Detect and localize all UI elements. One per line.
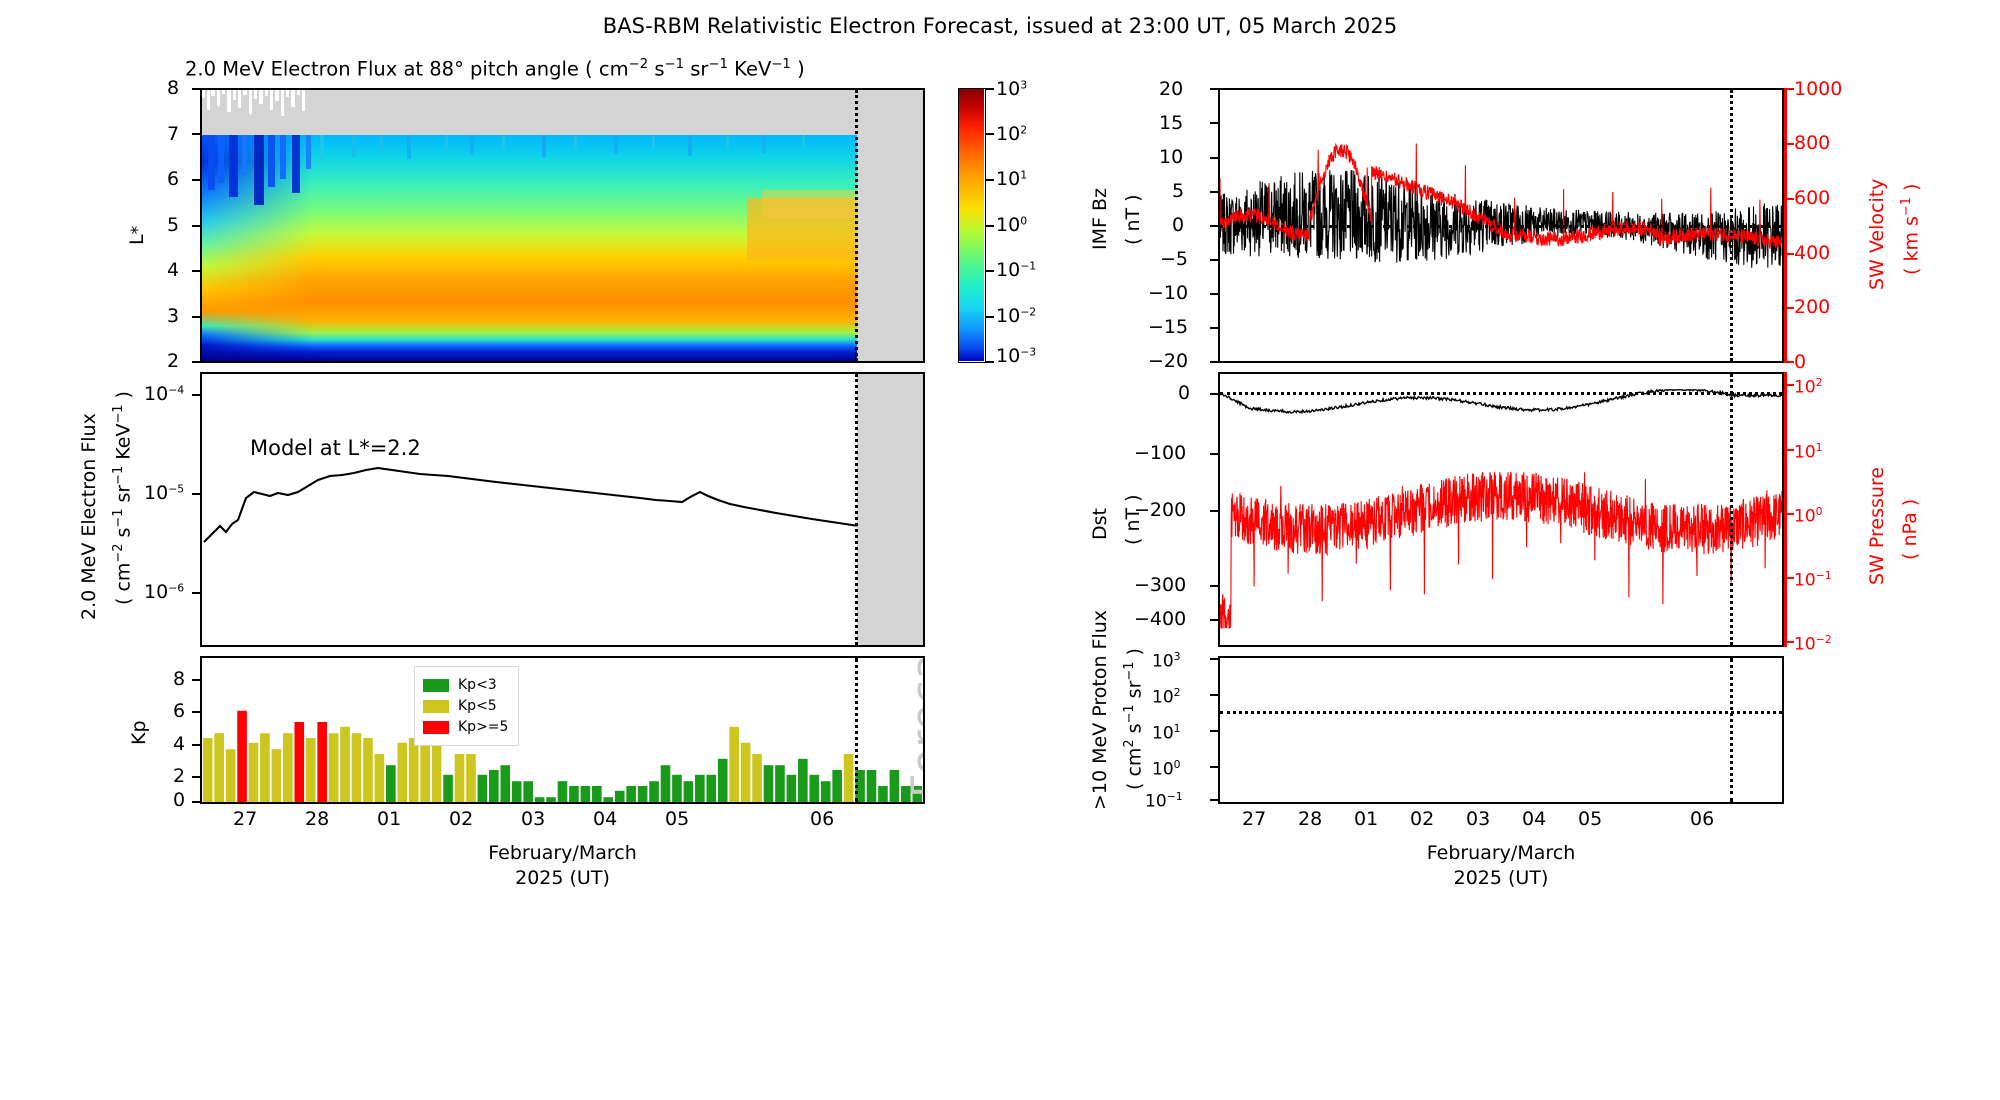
dst-ylabel: Dst xyxy=(1089,540,1121,562)
kp-tick-mark xyxy=(192,776,201,778)
left-xtick-02: 02 xyxy=(449,808,473,830)
imf-tick-mark xyxy=(1210,327,1219,329)
kp-bar xyxy=(352,733,362,802)
flux-title-exp3: −1 xyxy=(708,57,728,72)
forecast-shading-model-flux xyxy=(857,374,923,645)
swv-ytick-600: 600 xyxy=(1794,187,1830,209)
forecast-divider-dst xyxy=(1730,374,1733,645)
left-xtick-27: 27 xyxy=(233,808,257,830)
series-line xyxy=(1220,472,1782,628)
dst-zero-line xyxy=(1220,392,1782,395)
dst-series xyxy=(1220,374,1782,645)
pf-ytick-1e0: 100 xyxy=(1152,758,1181,779)
sw-pressure-axis-line xyxy=(1784,372,1787,647)
kp-bar xyxy=(626,786,636,802)
kp-bar xyxy=(340,727,350,802)
left-xaxis-label: February/March 2025 (UT) xyxy=(200,842,925,889)
kp-bar xyxy=(741,743,751,802)
swp-tick-mark xyxy=(1785,449,1794,451)
swp-ytick-1e1: 101 xyxy=(1794,441,1823,462)
kp-bar xyxy=(203,738,213,802)
right-xaxis-ticks: 27 28 01 02 03 04 05 06 xyxy=(1218,808,1784,834)
heatmap-ylabel: L* xyxy=(126,245,145,267)
kp-bar xyxy=(272,749,282,802)
kp-bar xyxy=(260,733,270,802)
colorbar-tick-1e1: 101 xyxy=(996,168,1027,190)
page-title: BAS-RBM Relativistic Electron Forecast, … xyxy=(0,14,2000,38)
left-xtick-05: 05 xyxy=(665,808,689,830)
flux-title-g: ) xyxy=(791,58,805,81)
heatmap-ytick-4: 4 xyxy=(167,259,179,281)
flux-title-exp1: −2 xyxy=(629,57,649,72)
dst-tick-mark xyxy=(1210,393,1219,395)
kp-bar xyxy=(878,786,888,802)
imf-ytick-5: 5 xyxy=(1172,180,1184,202)
imf-ytick-m10: −10 xyxy=(1148,282,1188,304)
kp-bar xyxy=(546,797,556,802)
flux-title-d: sr xyxy=(684,58,708,81)
degree-symbol: ° xyxy=(454,58,464,81)
swv-tick-mark xyxy=(1785,253,1794,255)
kp-legend-label-0: Kp<3 xyxy=(458,677,497,693)
colorbar-tick-1e2: 102 xyxy=(996,123,1027,145)
kp-legend-item-0: Kp<3 xyxy=(423,675,508,695)
colorbar-tick-1em3: 10−3 xyxy=(996,345,1036,367)
model-flux-ylabel2: ( cm−2 s−1 sr−1 KeV−1 ) xyxy=(111,605,325,628)
heatmap-ytick-3: 3 xyxy=(167,305,179,327)
dst-ytick-m200: −200 xyxy=(1134,499,1186,521)
kp-bar xyxy=(809,775,819,802)
left-xtick-28: 28 xyxy=(305,808,329,830)
kp-ytick-0: 0 xyxy=(173,789,185,811)
forecast-divider-heatmap xyxy=(855,90,858,361)
imf-tick-mark xyxy=(1210,157,1219,159)
kp-bar xyxy=(409,738,419,802)
forecast-watermark-kp: Forecast xyxy=(902,656,925,798)
kp-bar xyxy=(592,786,602,802)
swv-tick-mark xyxy=(1785,88,1794,90)
dst-ytick-m300: −300 xyxy=(1134,574,1186,596)
right-xaxis-label-line2: 2025 (UT) xyxy=(1218,867,1784,889)
swp-tick-mark xyxy=(1785,513,1794,515)
kp-bar xyxy=(684,781,694,802)
dst-ylabel2: ( nT ) xyxy=(1122,545,1173,567)
pf-ytick-1em1: 10−1 xyxy=(1145,790,1183,811)
heatmap-tick-mark xyxy=(192,133,201,135)
left-xtick-04: 04 xyxy=(593,808,617,830)
flux-title-c: s xyxy=(648,58,664,81)
forecast-watermark-heatmap: Forecast xyxy=(915,88,925,340)
heatmap-tick-mark xyxy=(192,361,201,363)
right-xtick-27: 27 xyxy=(1242,808,1266,830)
kp-ytick-2: 2 xyxy=(173,765,185,787)
kp-bar xyxy=(500,765,510,802)
model-flux-tick-mark xyxy=(192,592,201,594)
kp-bar xyxy=(649,781,659,802)
model-flux-ytick-1em5: 10−5 xyxy=(144,482,184,504)
model-flux-tick-mark xyxy=(192,493,201,495)
kp-bar xyxy=(375,754,385,802)
colorbar-tick-mark xyxy=(986,361,994,363)
swv-ytick-200: 200 xyxy=(1794,296,1830,318)
swp-tick-mark xyxy=(1785,641,1794,643)
kp-bar xyxy=(661,765,671,802)
swv-ytick-1000: 1000 xyxy=(1794,78,1842,100)
pf-tick-mark xyxy=(1210,730,1219,732)
pf-ytick-1e3: 103 xyxy=(1152,650,1181,671)
imf-ytick-0: 0 xyxy=(1172,214,1184,236)
flux-title-b: pitch angle ( cm xyxy=(464,58,629,81)
dst-tick-mark xyxy=(1210,585,1219,587)
imf-bz-panel[interactable] xyxy=(1218,88,1784,363)
heatmap-tick-mark xyxy=(192,270,201,272)
kp-bar xyxy=(283,733,293,802)
proton-flux-threshold-line xyxy=(1220,711,1782,714)
flux-heatmap-title: 2.0 MeV Electron Flux at 88° pitch angle… xyxy=(185,57,805,81)
dst-tick-mark xyxy=(1210,510,1219,512)
kp-bar xyxy=(214,733,224,802)
kp-bar xyxy=(798,759,808,802)
mfy-a: ( cm xyxy=(112,563,134,605)
kp-bar xyxy=(294,722,304,802)
kp-bar xyxy=(706,775,716,802)
forecast-divider-proton xyxy=(1730,658,1733,802)
heatmap-tick-mark xyxy=(192,179,201,181)
kp-bar xyxy=(249,743,259,802)
colorbar-tick-mark xyxy=(986,88,994,90)
right-xtick-02: 02 xyxy=(1410,808,1434,830)
forecast-watermark-model-flux: Forecast xyxy=(915,373,925,626)
right-xtick-01: 01 xyxy=(1354,808,1378,830)
kp-legend-swatch-green xyxy=(423,679,449,692)
kp-bar xyxy=(844,754,854,802)
kp-tick-mark xyxy=(192,679,201,681)
right-xtick-28: 28 xyxy=(1298,808,1322,830)
right-xaxis-label: February/March 2025 (UT) xyxy=(1218,842,1784,889)
swv-tick-mark xyxy=(1785,143,1794,145)
kp-bar xyxy=(226,749,236,802)
colorbar-tick-mark xyxy=(986,270,994,272)
kp-bar xyxy=(535,797,545,802)
kp-bar xyxy=(787,775,797,802)
dst-tick-mark xyxy=(1210,453,1219,455)
colorbar[interactable] xyxy=(958,88,986,363)
pf-ytick-1e1: 101 xyxy=(1152,722,1181,743)
kp-ylabel: Kp xyxy=(128,745,153,767)
swp-ytick-1em2: 10−2 xyxy=(1794,633,1832,654)
pf-tick-mark xyxy=(1210,799,1219,801)
proton-flux-panel[interactable] xyxy=(1218,656,1784,804)
flux-title-f: KeV xyxy=(728,58,771,81)
imf-tick-mark xyxy=(1210,191,1219,193)
kp-bar xyxy=(718,759,728,802)
swv-ytick-400: 400 xyxy=(1794,242,1830,264)
colorbar-tick-1e3: 103 xyxy=(996,78,1027,100)
kp-bar xyxy=(581,786,591,802)
kp-ytick-4: 4 xyxy=(173,733,185,755)
swv-tick-mark xyxy=(1785,361,1794,363)
imf-ytick-m20: −20 xyxy=(1148,350,1188,372)
kp-legend: Kp<3 Kp<5 Kp>=5 xyxy=(414,666,519,746)
pf-ytick-1e2: 102 xyxy=(1152,686,1181,707)
imf-ytick-m5: −5 xyxy=(1160,248,1188,270)
left-xaxis-label-line1: February/March xyxy=(200,842,925,864)
kp-bar xyxy=(752,754,762,802)
kp-bar xyxy=(420,743,430,802)
forecast-shading-heatmap xyxy=(857,90,923,361)
heatmap-tick-mark xyxy=(192,316,201,318)
swv-ytick-0: 0 xyxy=(1794,351,1806,373)
left-xaxis-ticks: 27 28 01 02 03 04 05 06 xyxy=(200,808,925,834)
kp-legend-label-1: Kp<5 xyxy=(458,698,497,714)
forecast-divider-model-flux xyxy=(855,374,858,645)
kp-bar xyxy=(455,754,465,802)
imf-tick-mark xyxy=(1210,88,1219,90)
kp-legend-swatch-red xyxy=(423,721,449,734)
swp-tick-mark xyxy=(1785,577,1794,579)
imf-bz-zero-line xyxy=(1220,225,1782,228)
kp-bar xyxy=(317,722,327,802)
kp-ytick-8: 8 xyxy=(173,668,185,690)
kp-bar xyxy=(558,781,568,802)
colorbar-tick-1e0: 100 xyxy=(996,214,1027,236)
dst-panel[interactable] xyxy=(1218,372,1784,647)
imf-tick-mark xyxy=(1210,259,1219,261)
kp-ytick-6: 6 xyxy=(173,700,185,722)
sw-pressure-ylabel: SW Pressure xyxy=(1866,585,1984,607)
left-xaxis-label-line2: 2025 (UT) xyxy=(200,867,925,889)
kp-bar xyxy=(867,770,877,802)
kp-legend-item-2: Kp>=5 xyxy=(423,717,508,737)
kp-bar xyxy=(466,754,476,802)
kp-bar xyxy=(478,775,488,802)
model-flux-annotation: Model at L*=2.2 xyxy=(250,436,421,460)
sw-velocity-ylabel2: ( km s−1 ) xyxy=(1899,275,1990,298)
forecast-divider-kp xyxy=(855,658,858,802)
swp-ytick-1e2: 102 xyxy=(1794,376,1823,397)
kp-bar xyxy=(329,733,339,802)
heatmap-ytick-5: 5 xyxy=(167,214,179,236)
heatmap-ytick-7: 7 xyxy=(167,123,179,145)
kp-bars xyxy=(202,658,923,802)
colorbar-gradient xyxy=(959,89,984,361)
series-line xyxy=(1220,170,1782,267)
colorbar-tick-1em1: 10−1 xyxy=(996,259,1036,281)
flux-title-exp2: −1 xyxy=(665,57,685,72)
right-xtick-05: 05 xyxy=(1578,808,1602,830)
kp-bar xyxy=(523,781,533,802)
heatmap-ytick-6: 6 xyxy=(167,168,179,190)
dst-tick-mark xyxy=(1210,619,1219,621)
swp-ytick-1em1: 10−1 xyxy=(1794,569,1832,590)
kp-bar xyxy=(603,797,613,802)
swp-ytick-1e0: 100 xyxy=(1794,505,1823,526)
pf-tick-mark xyxy=(1210,694,1219,696)
kp-bar xyxy=(615,791,625,802)
imf-tick-mark xyxy=(1210,293,1219,295)
kp-bar xyxy=(363,738,373,802)
kp-tick-mark xyxy=(192,801,201,803)
imf-ytick-10: 10 xyxy=(1159,146,1183,168)
swv-tick-mark xyxy=(1785,198,1794,200)
kp-bar xyxy=(443,775,453,802)
kp-panel[interactable]: Forecast Kp<3 Kp<5 Kp>=5 xyxy=(200,656,925,804)
kp-bar xyxy=(638,786,648,802)
heatmap-ytick-2: 2 xyxy=(167,350,179,372)
colorbar-tick-1em2: 10−2 xyxy=(996,305,1036,327)
sw-velocity-axis-line xyxy=(1784,88,1787,363)
kp-legend-item-1: Kp<5 xyxy=(423,696,508,716)
imf-tick-mark xyxy=(1210,225,1219,227)
flux-title-a: 2.0 MeV Electron Flux at 88 xyxy=(185,58,454,81)
right-xtick-03: 03 xyxy=(1466,808,1490,830)
swp-tick-mark xyxy=(1785,384,1794,386)
kp-bar xyxy=(672,775,682,802)
dst-ytick-m400: −400 xyxy=(1134,608,1186,630)
kp-bar xyxy=(512,781,522,802)
sw-pressure-ylabel2: ( nPa ) xyxy=(1899,560,1960,582)
kp-bar xyxy=(890,770,900,802)
kp-bar xyxy=(729,727,739,802)
left-xtick-03: 03 xyxy=(521,808,545,830)
imf-ytick-20: 20 xyxy=(1159,78,1183,100)
kp-bar xyxy=(832,770,842,802)
kp-bar xyxy=(306,738,316,802)
heatmap-tick-mark xyxy=(192,88,201,90)
left-xtick-06: 06 xyxy=(810,808,834,830)
kp-bar xyxy=(432,743,442,802)
model-flux-ylabel-line1: 2.0 MeV Electron Flux xyxy=(78,413,100,620)
dst-ytick-0: 0 xyxy=(1178,382,1190,404)
colorbar-tick-mark xyxy=(986,133,994,135)
swv-tick-mark xyxy=(1785,307,1794,309)
imf-tick-mark xyxy=(1210,122,1219,124)
left-xtick-01: 01 xyxy=(377,808,401,830)
kp-bar xyxy=(695,775,705,802)
kp-bar xyxy=(764,765,774,802)
flux-heatmap-image xyxy=(202,90,923,361)
colorbar-tick-mark xyxy=(986,225,994,227)
dst-ytick-m100: −100 xyxy=(1134,442,1186,464)
flux-title-exp4: −1 xyxy=(771,57,791,72)
colorbar-tick-mark xyxy=(986,316,994,318)
kp-bar xyxy=(237,711,247,802)
kp-legend-label-2: Kp>=5 xyxy=(458,719,508,735)
right-xaxis-label-line1: February/March xyxy=(1218,842,1784,864)
kp-bar xyxy=(569,786,579,802)
model-flux-ytick-1em4: 10−4 xyxy=(144,383,184,405)
kp-tick-mark xyxy=(192,744,201,746)
colorbar-tick-mark xyxy=(986,179,994,181)
forecast-divider-imf xyxy=(1730,90,1733,361)
imf-tick-mark xyxy=(1210,361,1219,363)
imf-ytick-15: 15 xyxy=(1159,112,1183,134)
kp-bar xyxy=(386,765,396,802)
pf-tick-mark xyxy=(1210,658,1219,660)
imf-ytick-m15: −15 xyxy=(1148,316,1188,338)
heatmap-ytick-8: 8 xyxy=(167,77,179,99)
model-flux-tick-mark xyxy=(192,394,201,396)
kp-tick-mark xyxy=(192,711,201,713)
swv-ytick-800: 800 xyxy=(1794,132,1830,154)
kp-bar xyxy=(821,781,831,802)
flux-heatmap-panel[interactable]: Forecast xyxy=(200,88,925,363)
kp-bar xyxy=(775,765,785,802)
model-flux-ytick-1em6: 10−6 xyxy=(144,581,184,603)
right-xtick-04: 04 xyxy=(1522,808,1546,830)
kp-legend-swatch-yellow xyxy=(423,700,449,713)
pf-tick-mark xyxy=(1210,766,1219,768)
kp-bar xyxy=(489,770,499,802)
heatmap-tick-mark xyxy=(192,225,201,227)
right-xtick-06: 06 xyxy=(1690,808,1714,830)
kp-bar xyxy=(397,743,407,802)
